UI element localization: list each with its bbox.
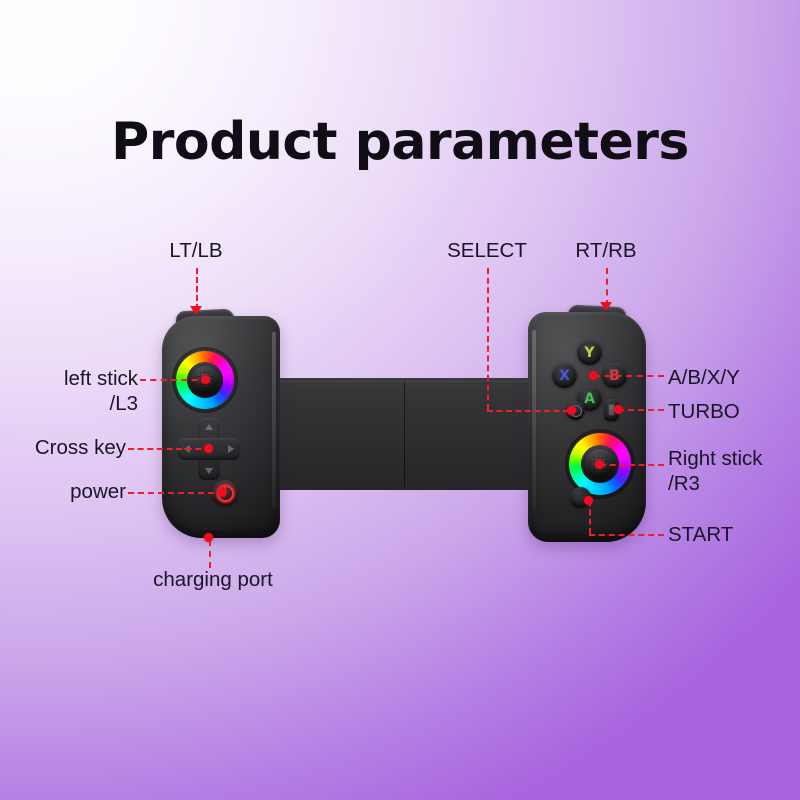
label-charging-port: charging port <box>123 567 303 592</box>
right-grip-rail <box>532 330 536 510</box>
label-right-stick-r3: /R3 <box>668 471 800 496</box>
bridge-highlight <box>276 381 532 382</box>
leader-dot-start <box>584 496 593 505</box>
leader-arrow-lt-lb <box>190 306 202 315</box>
dpad-right-icon[interactable] <box>228 445 234 453</box>
label-rt-rb: RT/RB <box>558 238 654 263</box>
leader-abxy <box>594 375 664 377</box>
leader-dot-power <box>218 488 227 497</box>
leader-rt-rb <box>606 268 608 306</box>
leader-dot-turbo <box>614 405 623 414</box>
bridge-seam <box>404 381 405 487</box>
label-abxy: A/B/X/Y <box>668 365 800 390</box>
leader-turbo <box>618 409 664 411</box>
leader-arrow-rt-rb <box>600 302 612 311</box>
leader-select-vertical <box>487 268 489 410</box>
label-left-stick: left stick <box>0 366 138 391</box>
product-parameters-diagram: Product parameters <box>0 0 800 800</box>
label-lt-lb: LT/LB <box>148 238 244 263</box>
button-a-glyph: A <box>584 391 595 407</box>
label-select: SELECT <box>439 238 535 263</box>
leader-dot-select <box>567 406 576 415</box>
leader-dot-cross-key <box>204 444 213 453</box>
leader-dot-abxy <box>589 371 598 380</box>
leader-dot-left-stick <box>201 375 210 384</box>
leader-cross-key <box>128 448 211 450</box>
left-grip-rail <box>272 332 276 508</box>
button-x-glyph: X <box>559 368 570 384</box>
leader-select-horizontal <box>487 410 569 412</box>
leader-start-horizontal <box>589 534 664 536</box>
label-start: START <box>668 522 800 547</box>
label-right-stick: Right stick <box>668 446 800 471</box>
leader-charging-port <box>209 540 211 568</box>
leader-power <box>128 492 224 494</box>
leader-right-stick <box>600 464 664 466</box>
button-x[interactable]: X <box>552 363 577 388</box>
leader-lt-lb <box>196 268 198 310</box>
leader-start-vertical <box>589 500 591 534</box>
dpad-down-icon[interactable] <box>205 468 213 474</box>
dpad-up-icon[interactable] <box>205 424 213 430</box>
button-y[interactable]: Y <box>577 340 602 365</box>
label-cross-key: Cross key <box>0 435 126 460</box>
label-left-stick-l3: /L3 <box>0 391 138 416</box>
leader-dot-right-stick <box>595 460 604 469</box>
leader-dot-charging-port <box>204 533 213 542</box>
label-turbo: TURBO <box>668 399 800 424</box>
label-power: power <box>0 479 126 504</box>
button-y-glyph: Y <box>584 345 594 361</box>
leader-left-stick <box>140 379 208 381</box>
